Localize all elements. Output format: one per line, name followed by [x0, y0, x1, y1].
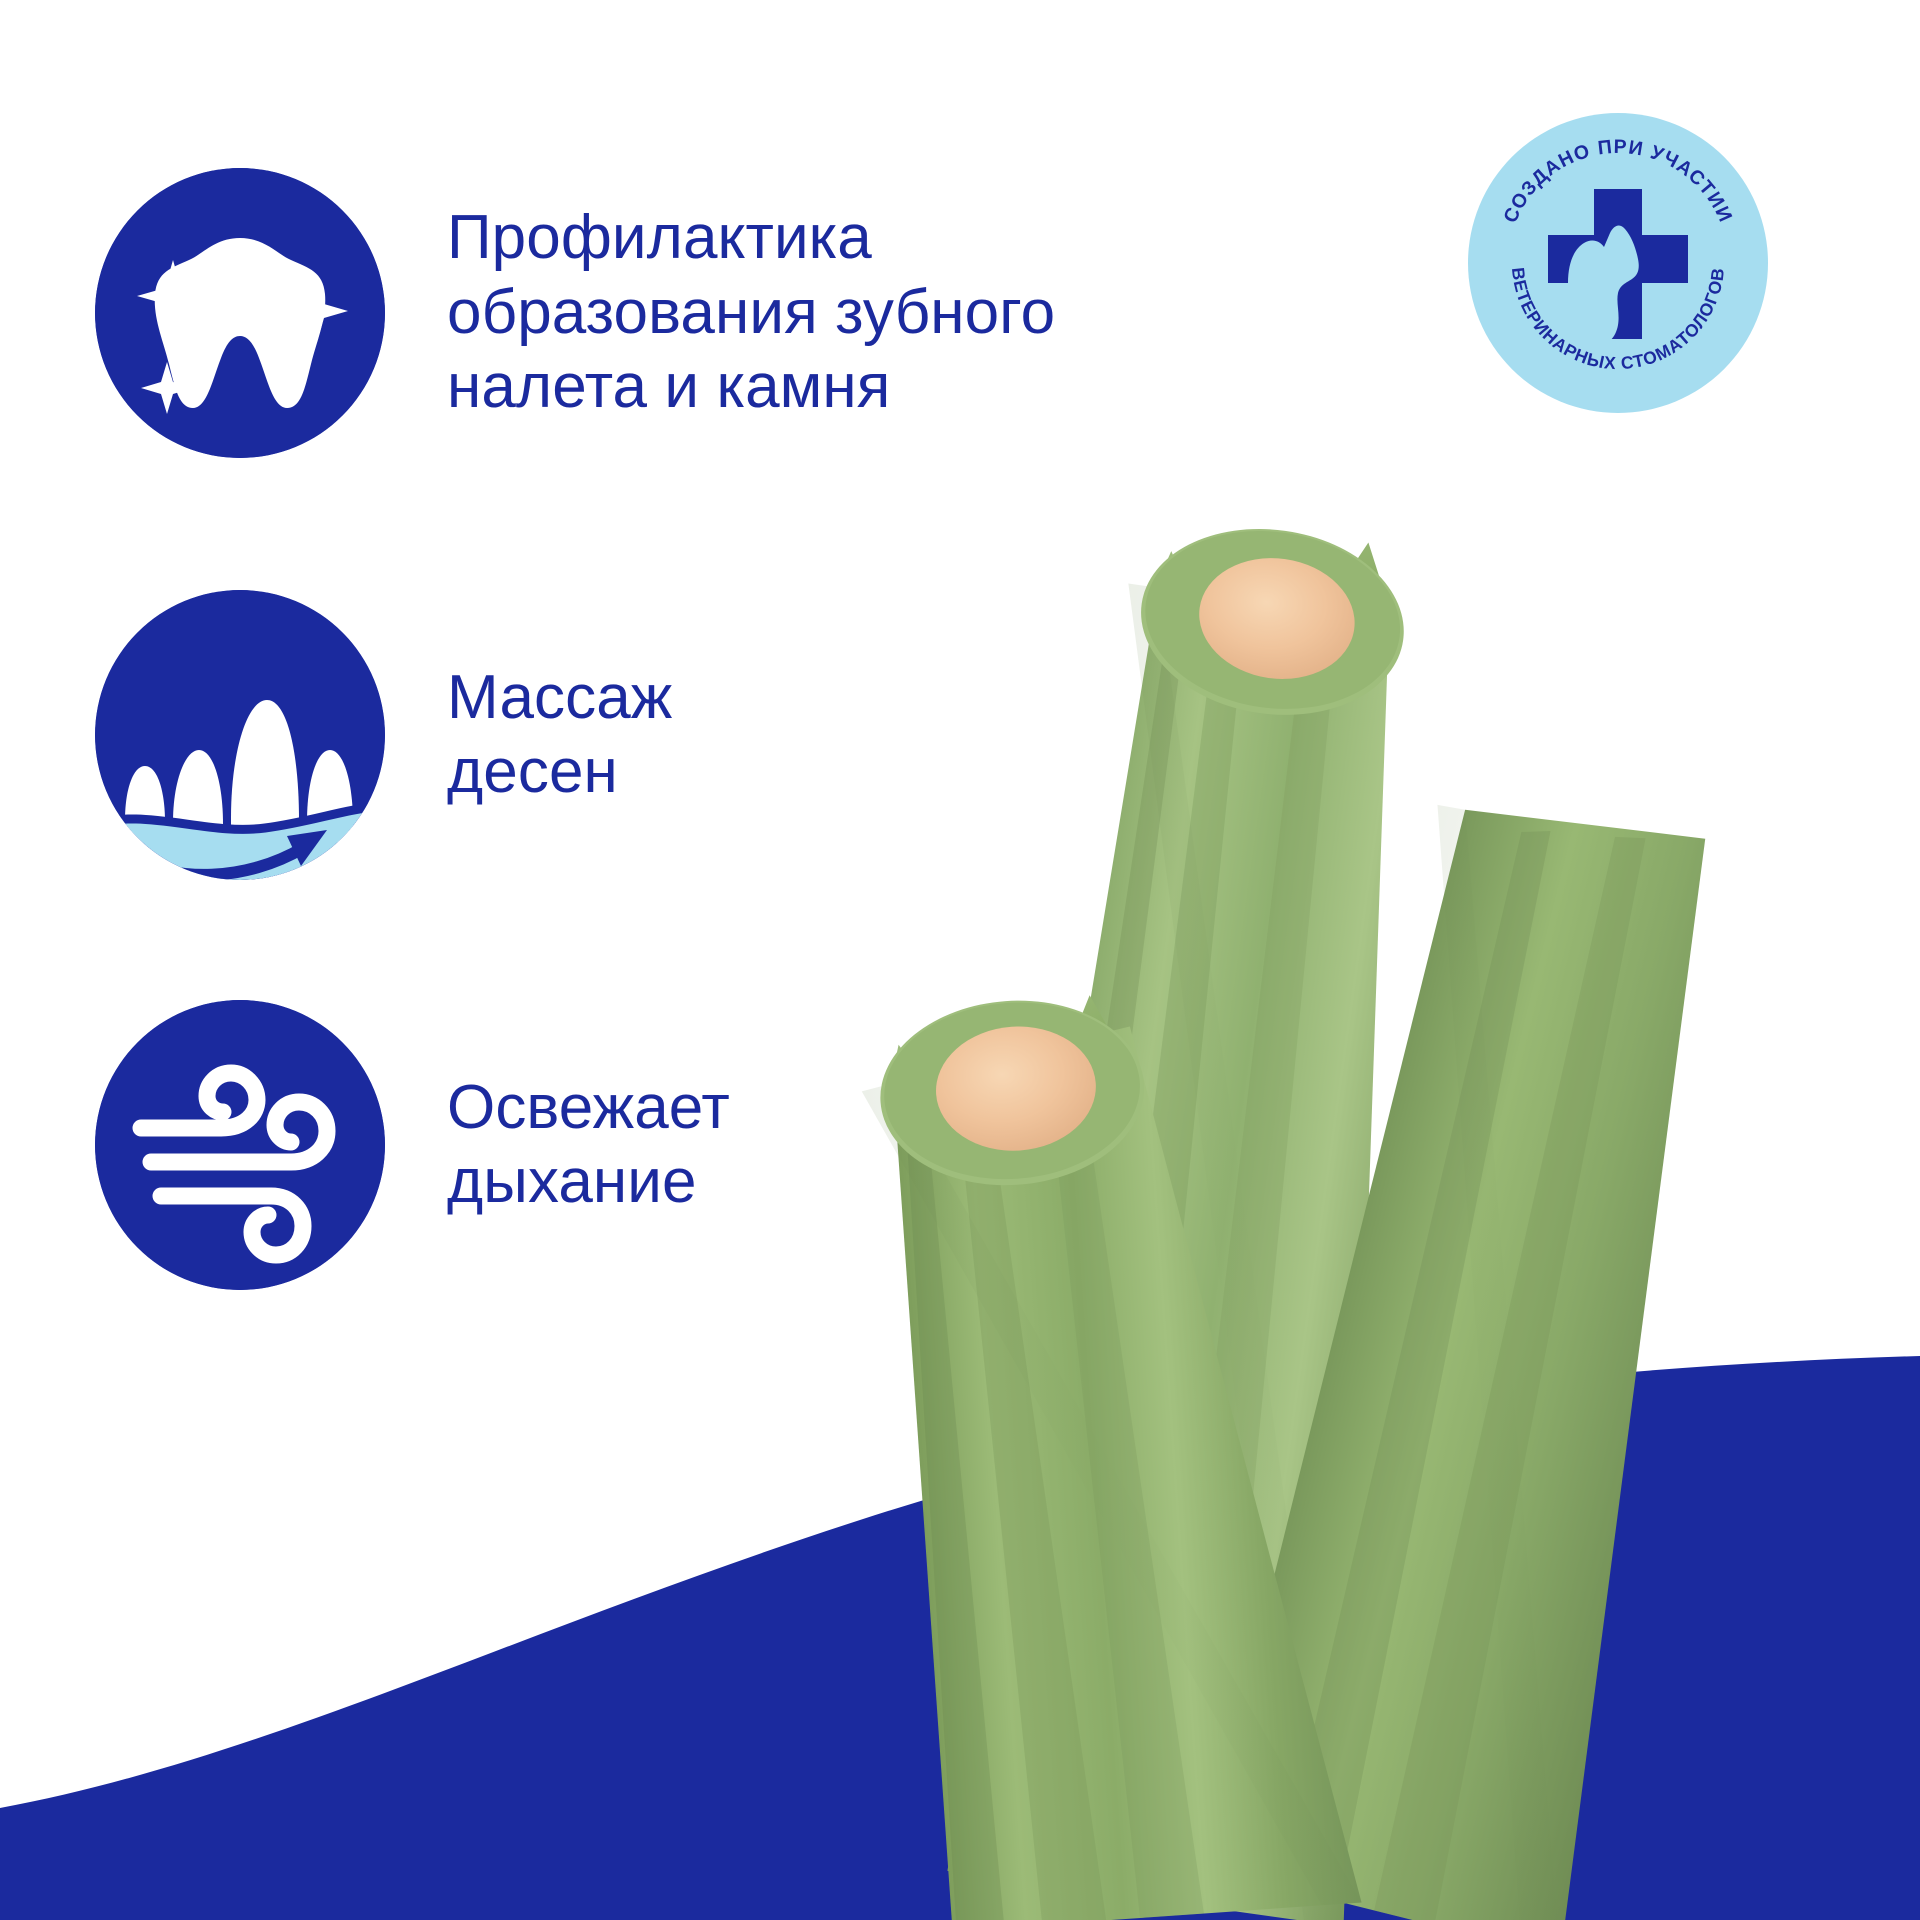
- feature-label-gum-massage: Массаж десен: [447, 661, 672, 810]
- dental-chew-sticks-image: [830, 470, 1920, 1920]
- veterinary-dentists-badge: СОЗДАНО ПРИ УЧАСТИИ ВЕТЕРИНАРНЫХ СТОМАТО…: [1468, 113, 1768, 413]
- promo-canvas: Профилактика образования зубного налета …: [0, 0, 1920, 1920]
- feature-label-fresh-breath: Освежает дыхание: [447, 1071, 730, 1220]
- wind-freshness-icon: [95, 1000, 385, 1290]
- gum-massage-icon: [95, 590, 385, 880]
- feature-label-plaque-prevention: Профилактика образования зубного налета …: [447, 201, 1055, 424]
- feature-row-fresh-breath: Освежает дыхание: [95, 1000, 730, 1290]
- tooth-sparkle-icon: [95, 168, 385, 458]
- feature-row-gum-massage: Массаж десен: [95, 590, 672, 880]
- feature-row-plaque-prevention: Профилактика образования зубного налета …: [95, 168, 1055, 458]
